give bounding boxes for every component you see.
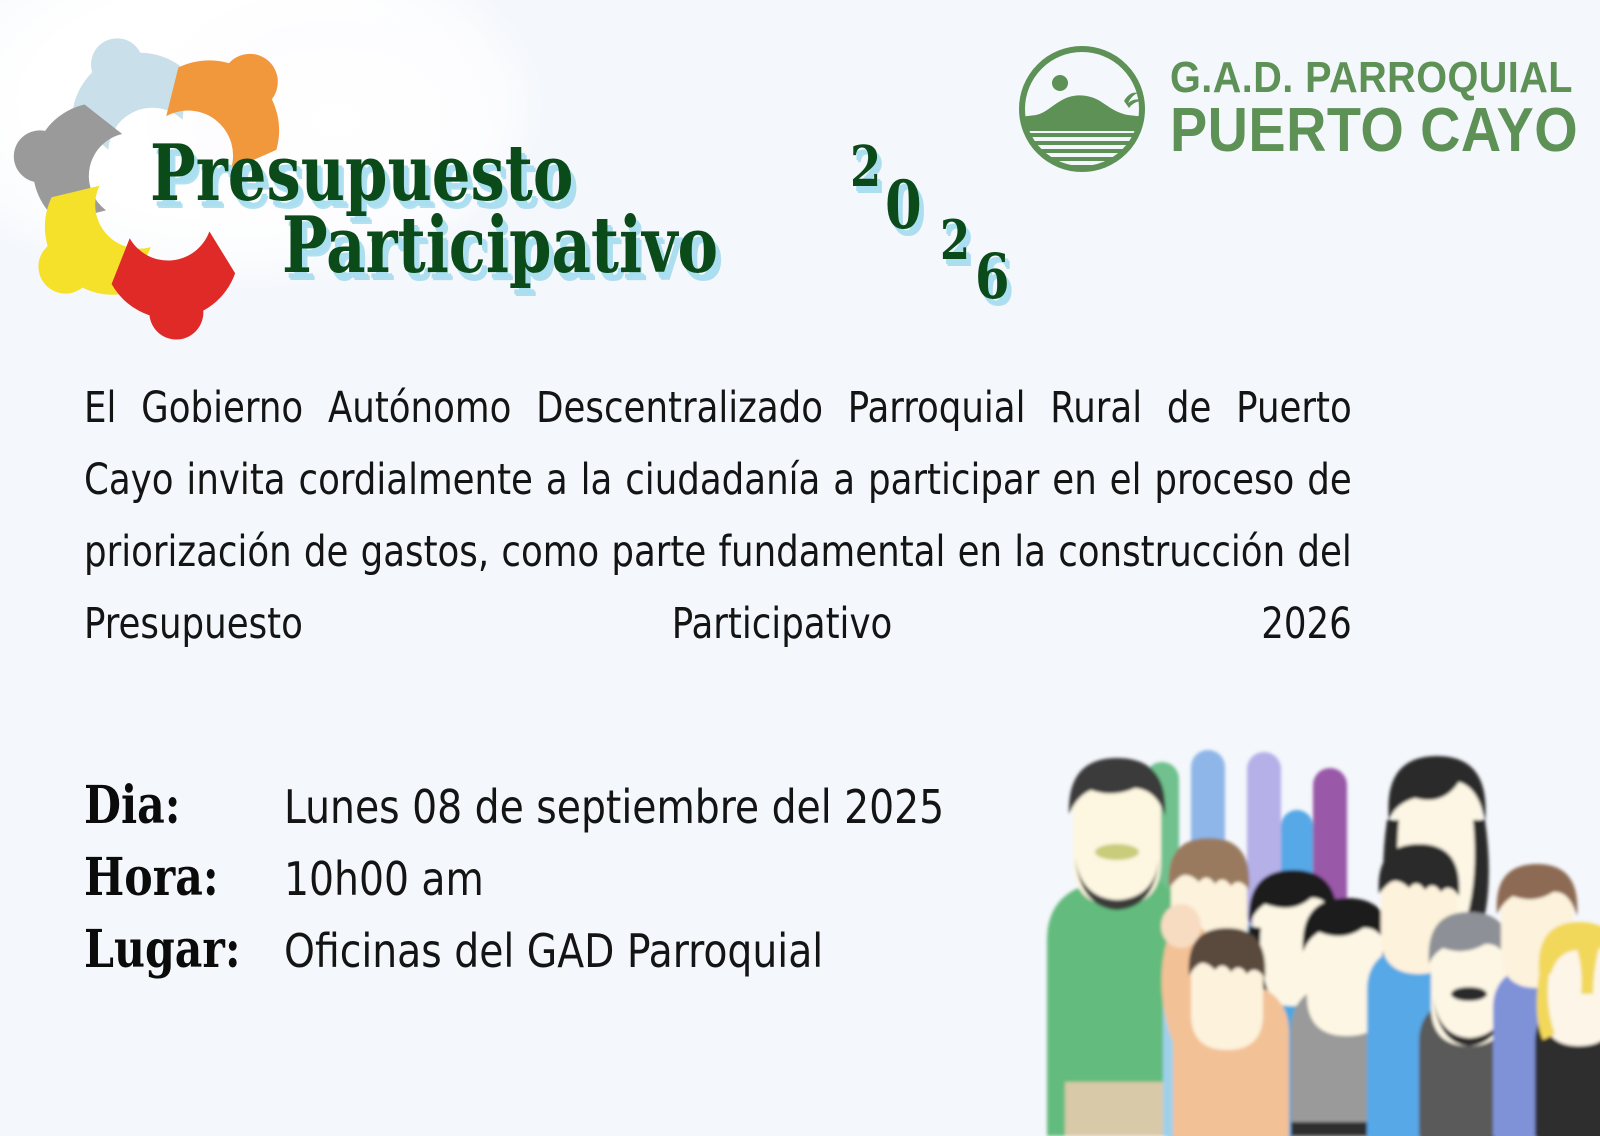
event-details: Dia: Lunes 08 de septiembre del 2025 Hor…: [84, 775, 984, 991]
detail-row-hora: Hora: 10h00 am: [84, 847, 984, 919]
year-digit-1: 2: [850, 134, 881, 200]
detail-label-dia: Dia:: [84, 775, 248, 836]
detail-value-hora: 10h00 am: [284, 852, 484, 906]
invitation-paragraph: El Gobierno Autónomo Descentralizado Par…: [84, 372, 1352, 732]
year-digit-2: 0: [885, 166, 922, 244]
poster-canvas: G.A.D. PARROQUIAL PUERTO CAYO Presupuest…: [0, 0, 1600, 1136]
gad-logo: G.A.D. PARROQUIAL PUERTO CAYO: [1012, 30, 1512, 188]
detail-label-lugar: Lugar:: [84, 919, 248, 980]
year-digit-4: 6: [975, 240, 1010, 313]
detail-row-lugar: Lugar: Oficinas del GAD Parroquial: [84, 919, 984, 991]
year-digit-3: 2: [940, 208, 970, 272]
logo-line-1: G.A.D. PARROQUIAL: [1170, 57, 1578, 99]
detail-label-hora: Hora:: [84, 847, 248, 908]
detail-value-dia: Lunes 08 de septiembre del 2025: [284, 780, 944, 834]
detail-row-dia: Dia: Lunes 08 de septiembre del 2025: [84, 775, 984, 847]
logo-line-2: PUERTO CAYO: [1170, 102, 1578, 161]
title-line-2: Participativo: [282, 200, 718, 291]
page-title: Presupuesto Participativo 2 0 2 6: [150, 128, 1050, 298]
detail-value-lugar: Oficinas del GAD Parroquial: [284, 924, 823, 978]
crowd-of-people-illustration: [995, 690, 1600, 1136]
